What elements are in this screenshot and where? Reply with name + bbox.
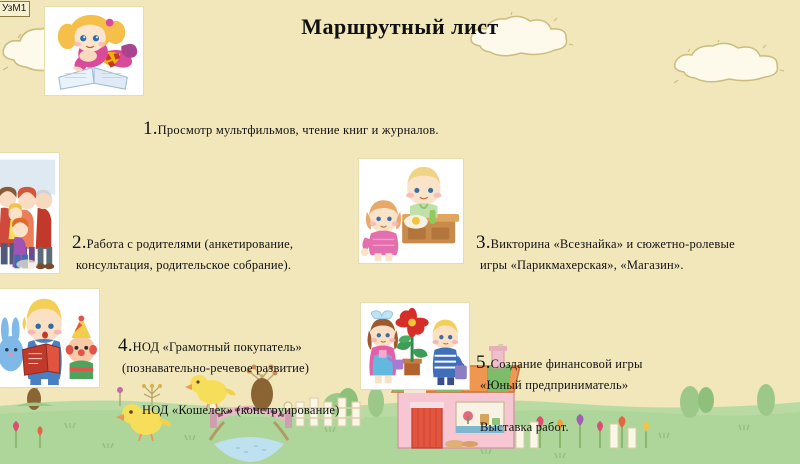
item-5-number: 5. [476, 352, 491, 373]
item-2-text-line-1: Работа с родителями (анкетирование, [87, 237, 294, 251]
route-item-4: 4.НОД «Грамотный покупатель» (познавател… [118, 315, 388, 442]
item-4-text-line-3: НОД «Кошелек» (конструирование) [142, 400, 388, 421]
item-4-text-line-2: (познавательно-речевое развитие) [122, 358, 388, 379]
family-group-photo [0, 152, 60, 274]
item-2-number: 2. [72, 232, 87, 253]
item-1-number: 1. [143, 118, 158, 139]
item-4-number: 4. [118, 335, 133, 356]
boy-reading-with-toys-photo [0, 288, 100, 388]
corner-tag-label: УзМ1 [0, 1, 30, 17]
route-item-3: 3.Викторина «Всезнайка» и сюжетно-ролевы… [476, 212, 796, 297]
item-5-text-line-1: Создание финансовой игры [491, 357, 643, 371]
item-3-text-line-2: игры «Парикмахерская», «Магазин». [480, 255, 796, 276]
item-2-text-line-2: консультация, родительское собрание). [76, 255, 352, 276]
presentation-slide: УзМ1 Маршрутный лист [0, 0, 800, 464]
route-item-1: 1.Просмотр мультфильмов, чтение книг и ж… [143, 98, 573, 141]
item-1-text: Просмотр мультфильмов, чтение книг и жур… [158, 123, 439, 137]
route-item-2: 2.Работа с родителями (анкетирование, ко… [72, 212, 352, 297]
cloud-decoration-right [668, 40, 788, 90]
item-4-text-line-1: НОД «Грамотный покупатель» [133, 340, 302, 354]
item-5-text-line-2: «Юный предприниматель» [480, 375, 736, 396]
item-3-number: 3. [476, 232, 491, 253]
item-5-text-line-3: Выставка работ. [480, 417, 736, 438]
route-item-5: 5.Создание финансовой игры «Юный предпри… [476, 332, 736, 459]
item-3-text-line-1: Викторина «Всезнайка» и сюжетно-ролевые [491, 237, 735, 251]
children-playing-shop-photo [358, 158, 464, 264]
page-title: Маршрутный лист [0, 14, 800, 40]
